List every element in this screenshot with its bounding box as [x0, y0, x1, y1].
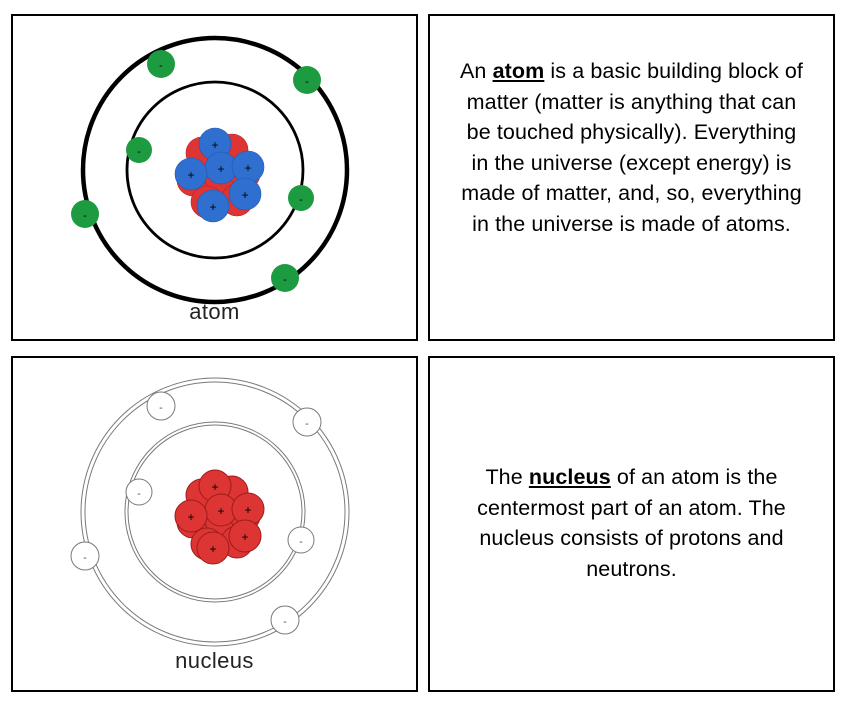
svg-text:-: - [305, 418, 309, 430]
svg-text:+: + [209, 542, 216, 556]
nucleus-cluster: + + + + + [175, 128, 264, 222]
svg-text:-: - [83, 210, 87, 222]
svg-text:-: - [283, 616, 287, 628]
svg-text:+: + [244, 161, 251, 175]
electron: - [271, 264, 299, 292]
electron: - [293, 66, 321, 94]
atom-diagram-svg: + + + + + [45, 22, 385, 322]
proton: + [175, 158, 207, 190]
nucleus-cluster: + + + + + [175, 470, 264, 564]
electron: - [147, 50, 175, 78]
svg-text:+: + [217, 504, 224, 518]
proton: + [175, 500, 207, 532]
svg-text:-: - [299, 194, 303, 206]
nucleus-definition-text: The nucleus of an atom is the centermost… [430, 462, 833, 584]
card-sheet: + + + + + [0, 0, 846, 705]
atom-definition-card: An atom is a basic building block of mat… [428, 14, 835, 341]
svg-text:+: + [211, 480, 218, 494]
svg-text:+: + [241, 530, 248, 544]
electron: - [71, 200, 99, 228]
atom-diagram: + + + + + [13, 16, 416, 339]
proton: + [229, 178, 261, 210]
svg-text:-: - [283, 274, 287, 286]
electron: - [288, 185, 314, 211]
electron: - [71, 542, 99, 570]
svg-text:-: - [137, 146, 141, 158]
svg-text:+: + [244, 503, 251, 517]
svg-text:+: + [209, 200, 216, 214]
svg-text:+: + [187, 168, 194, 182]
proton: + [197, 190, 229, 222]
nucleus-diagram-svg: + + + + + [45, 364, 385, 664]
atom-text-after: is a basic building block of matter (mat… [461, 59, 803, 236]
atom-definition-text: An atom is a basic building block of mat… [430, 56, 833, 239]
nucleus-text-before: The [485, 465, 528, 489]
proton: + [229, 520, 261, 552]
svg-text:-: - [137, 488, 141, 500]
nucleus-figure-card: + + + + + [11, 356, 418, 692]
proton: + [197, 532, 229, 564]
nucleus-term: nucleus [529, 465, 611, 489]
electron: - [293, 408, 321, 436]
electron: - [147, 392, 175, 420]
atom-text-before: An [460, 59, 493, 83]
nucleus-figure-label: nucleus [13, 648, 416, 674]
svg-text:-: - [83, 552, 87, 564]
svg-text:+: + [217, 162, 224, 176]
electron: - [126, 479, 152, 505]
atom-figure-card: + + + + + [11, 14, 418, 341]
svg-text:-: - [159, 402, 163, 414]
electron: - [271, 606, 299, 634]
electron: - [288, 527, 314, 553]
atom-term: atom [493, 59, 545, 83]
nucleus-definition-card: The nucleus of an atom is the centermost… [428, 356, 835, 692]
svg-text:+: + [211, 138, 218, 152]
svg-text:-: - [159, 60, 163, 72]
svg-text:-: - [305, 76, 309, 88]
atom-figure-label: atom [13, 299, 416, 325]
nucleus-diagram: + + + + + [13, 358, 416, 690]
svg-text:-: - [299, 536, 303, 548]
svg-text:+: + [187, 510, 194, 524]
svg-text:+: + [241, 188, 248, 202]
electron: - [126, 137, 152, 163]
